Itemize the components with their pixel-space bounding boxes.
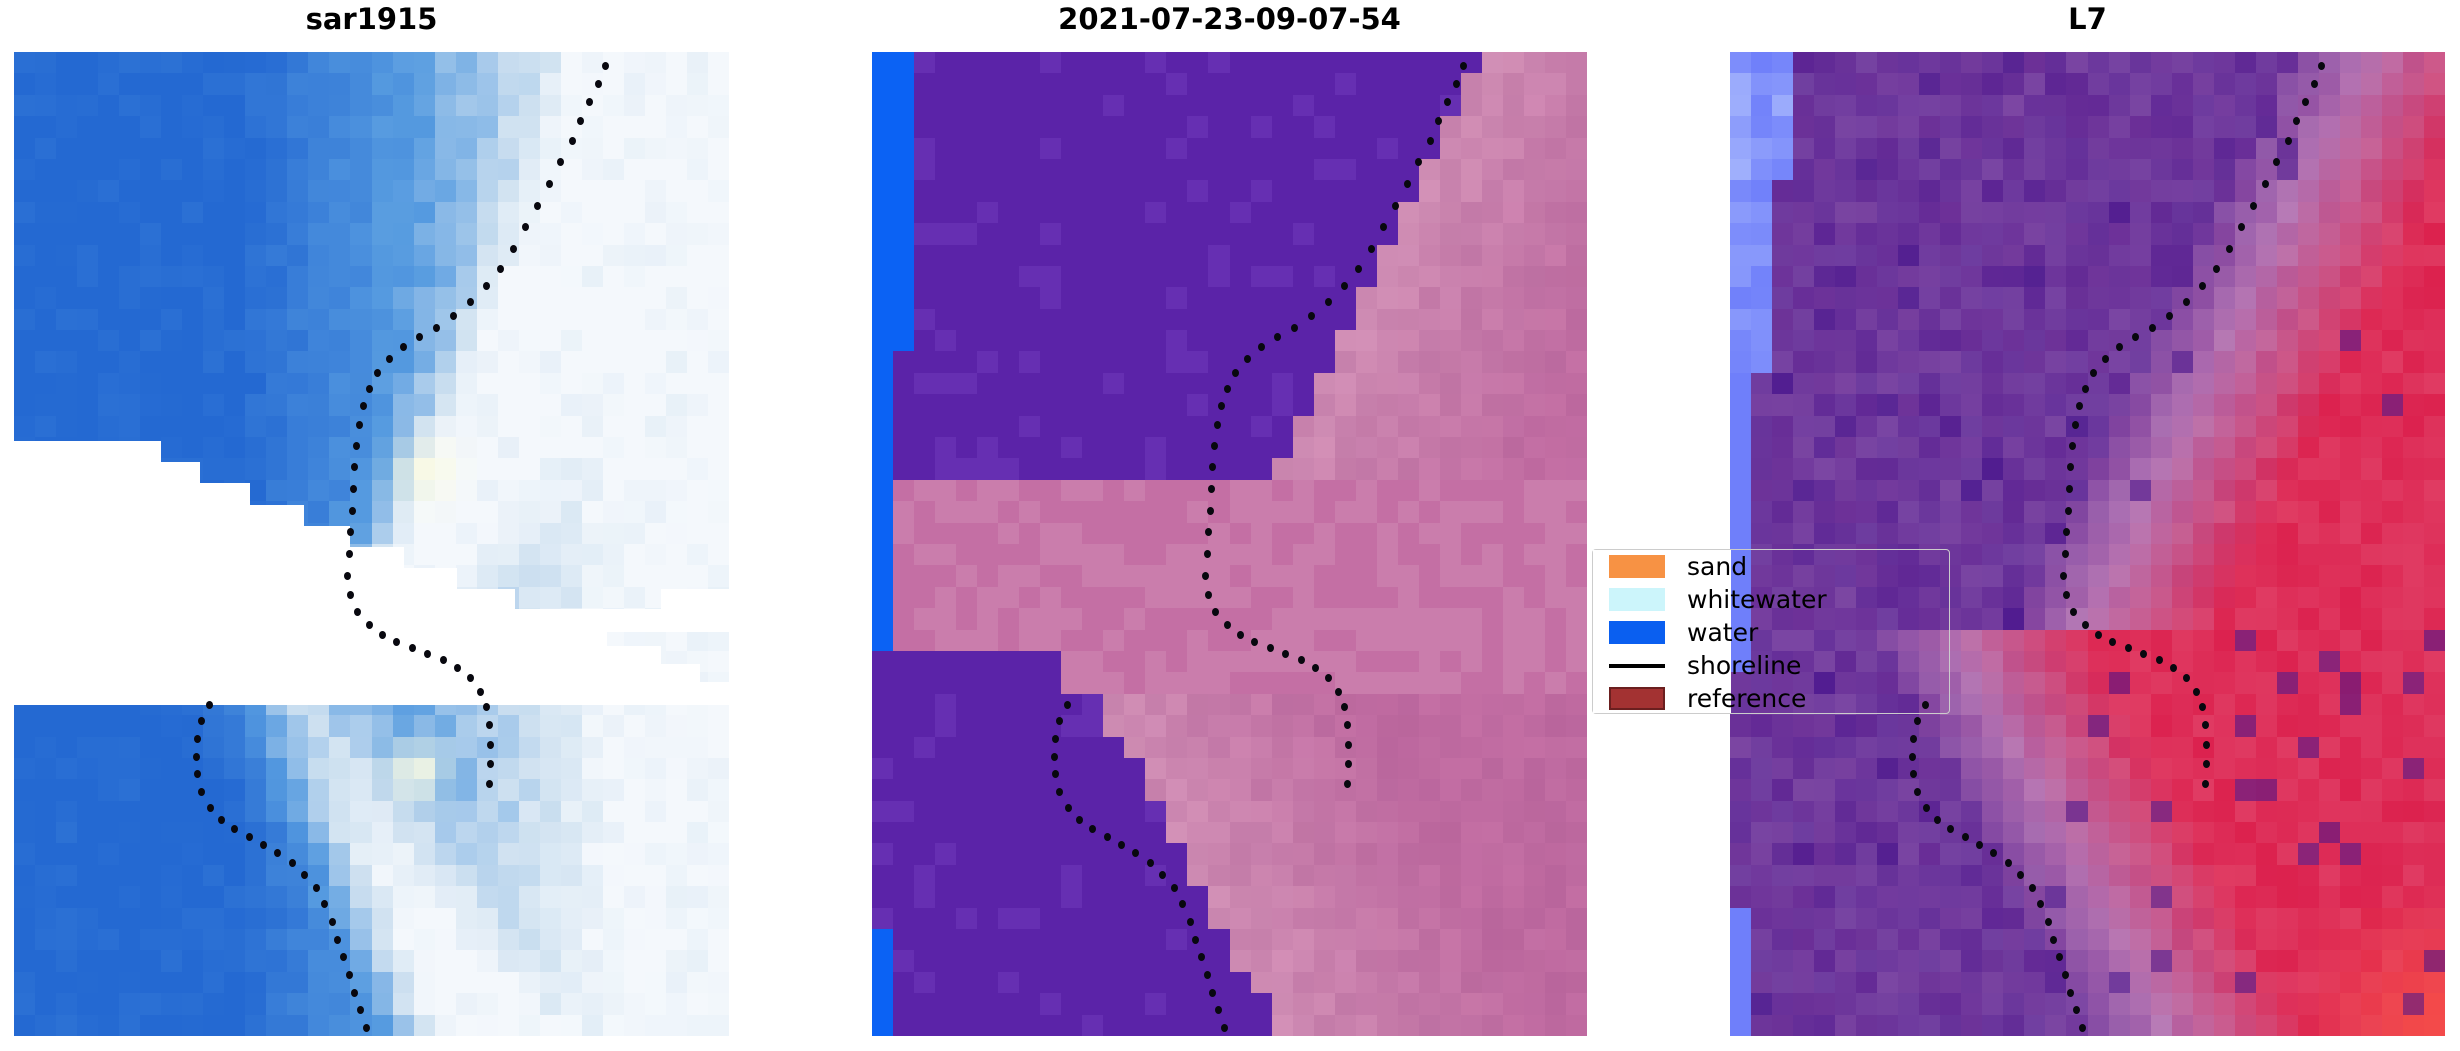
shoreline-dot: [2262, 180, 2269, 188]
shoreline-dot: [2250, 202, 2257, 210]
shoreline-dot: [366, 385, 373, 393]
shoreline-dot: [1392, 202, 1399, 210]
shoreline-dot: [2140, 650, 2147, 658]
shoreline-dot: [1187, 918, 1194, 926]
shoreline-dot: [1251, 638, 1258, 646]
shoreline-dot: [1345, 741, 1352, 749]
shoreline-dot: [2202, 780, 2209, 788]
shoreline-dot: [1344, 721, 1351, 729]
shoreline-dot: [1215, 1006, 1222, 1014]
shoreline-dot: [2238, 223, 2245, 231]
shoreline-dot: [1214, 421, 1221, 429]
shoreline-dot: [374, 369, 381, 377]
legend-label: sand: [1687, 552, 1747, 581]
panel-title-classified: 2021-07-23-09-07-54: [872, 2, 1587, 36]
shoreline-dot: [344, 572, 351, 580]
shoreline-dot: [1976, 841, 1983, 849]
shoreline-dot: [1914, 788, 1921, 796]
shoreline-dot: [393, 638, 400, 646]
shoreline-dot: [289, 859, 296, 867]
shoreline-dot: [347, 591, 354, 599]
shoreline-dot: [487, 741, 494, 749]
shoreline-dot: [1204, 971, 1211, 979]
shoreline-dot: [1325, 674, 1332, 682]
shoreline-dot: [1209, 463, 1216, 471]
shoreline-dot: [353, 442, 360, 450]
shoreline-dot: [440, 656, 447, 664]
shoreline-dot: [1258, 343, 1265, 351]
shoreline-dot: [2226, 245, 2233, 253]
shoreline-dot: [2203, 760, 2210, 768]
shoreline-dot: [1212, 608, 1219, 616]
shoreline-dot: [246, 833, 253, 841]
shoreline-dot: [198, 788, 205, 796]
shoreline-dot: [2273, 158, 2280, 166]
shoreline-dot: [231, 825, 238, 833]
shoreline-dot: [2302, 98, 2309, 106]
shoreline-dot: [2063, 528, 2070, 536]
legend-swatch-icon: [1609, 588, 1665, 611]
shoreline-dot: [366, 621, 373, 629]
shoreline-dot: [1341, 282, 1348, 290]
shoreline-dot: [1444, 98, 1451, 106]
classified-shoreline-dots: [872, 52, 1587, 1036]
shoreline-dot: [577, 117, 584, 125]
shoreline-dot: [329, 918, 336, 926]
shoreline-dot: [2102, 355, 2109, 363]
shoreline-dot: [2056, 953, 2063, 961]
shoreline-dot: [1179, 900, 1186, 908]
shoreline-dot: [2213, 265, 2220, 273]
panel-title-l7: L7: [1730, 2, 2445, 36]
shoreline-dot: [2090, 369, 2097, 377]
shoreline-dot: [454, 664, 461, 672]
shoreline-dot: [450, 312, 457, 320]
shoreline-dot: [349, 507, 356, 515]
shoreline-dot: [1282, 650, 1289, 658]
shoreline-dot: [351, 463, 358, 471]
sar-shoreline-dots: [14, 52, 729, 1036]
shoreline-dot: [467, 674, 474, 682]
legend-line-icon: [1609, 664, 1665, 668]
shoreline-dot: [321, 900, 328, 908]
shoreline-dot: [1205, 528, 1212, 536]
shoreline-dot: [602, 62, 609, 70]
shoreline-dot: [467, 298, 474, 306]
shoreline-dot: [1355, 265, 1362, 273]
shoreline-dot: [1415, 158, 1422, 166]
panel-sar1915[interactable]: [14, 52, 729, 1036]
shoreline-dot: [409, 644, 416, 652]
shoreline-dot: [194, 735, 201, 743]
shoreline-dot: [424, 650, 431, 658]
shoreline-dot: [218, 816, 225, 824]
shoreline-dot: [2005, 859, 2012, 867]
legend-label: reference: [1687, 684, 1806, 713]
shoreline-dot: [477, 688, 484, 696]
shoreline-dot: [2082, 385, 2089, 393]
shoreline-dot: [2109, 638, 2116, 646]
shoreline-dot: [1312, 664, 1319, 672]
shoreline-dot: [1435, 117, 1442, 125]
shoreline-dot: [1118, 841, 1125, 849]
shoreline-dot: [1291, 324, 1298, 332]
shoreline-dot: [2149, 324, 2156, 332]
l7-shoreline-dots: [1730, 52, 2445, 1036]
shoreline-dot: [1208, 485, 1215, 493]
shoreline-dot: [2050, 936, 2057, 944]
shoreline-dot: [346, 550, 353, 558]
shoreline-dot: [1205, 591, 1212, 599]
shoreline-dot: [1224, 621, 1231, 629]
shoreline-dot: [483, 282, 490, 290]
shoreline-dot: [2199, 703, 2206, 711]
shoreline-dot: [1056, 788, 1063, 796]
figure-canvas: sar1915 2021-07-23-09-07-54 L7 sandwhite…: [0, 0, 2460, 1051]
shoreline-dot: [2069, 442, 2076, 450]
shoreline-dot: [1344, 780, 1351, 788]
shoreline-dot: [313, 884, 320, 892]
shoreline-dot: [2017, 871, 2024, 879]
shoreline-dot: [1914, 717, 1921, 725]
shoreline-dot: [1104, 833, 1111, 841]
shoreline-dot: [433, 324, 440, 332]
shoreline-dot: [534, 202, 541, 210]
shoreline-dot: [2318, 62, 2325, 70]
shoreline-dot: [1335, 688, 1342, 696]
shoreline-dot: [1052, 735, 1059, 743]
shoreline-dot: [198, 717, 205, 725]
shoreline-dot: [2029, 884, 2036, 892]
shoreline-dot: [1211, 442, 1218, 450]
shoreline-dot: [1052, 770, 1059, 778]
shoreline-dot: [497, 265, 504, 273]
shoreline-dot: [1345, 760, 1352, 768]
shoreline-dot: [1453, 80, 1460, 88]
shoreline-dot: [483, 703, 490, 711]
shoreline-dot: [2067, 463, 2074, 471]
shoreline-dot: [1267, 644, 1274, 652]
shoreline-dot: [2156, 656, 2163, 664]
shoreline-dot: [346, 971, 353, 979]
shoreline-dot: [1427, 137, 1434, 145]
shoreline-dot: [522, 223, 529, 231]
shoreline-dot: [1171, 884, 1178, 892]
shoreline-dot: [301, 871, 308, 879]
shoreline-dot: [194, 770, 201, 778]
shoreline-dot: [2065, 507, 2072, 515]
shoreline-dot: [569, 137, 576, 145]
shoreline-dot: [557, 158, 564, 166]
shoreline-dot: [334, 936, 341, 944]
shoreline-dot: [1325, 298, 1332, 306]
shoreline-dot: [1947, 825, 1954, 833]
shoreline-dot: [2166, 312, 2173, 320]
panel-classified[interactable]: [872, 52, 1587, 1036]
shoreline-dot: [1051, 753, 1058, 761]
shoreline-dot: [207, 804, 214, 812]
shoreline-dot: [1404, 180, 1411, 188]
shoreline-dot: [2060, 572, 2067, 580]
shoreline-dot: [1221, 1024, 1228, 1032]
shoreline-dot: [351, 989, 358, 997]
shoreline-dot: [586, 98, 593, 106]
shoreline-dot: [2079, 1024, 2086, 1032]
shoreline-dot: [360, 402, 367, 410]
shoreline-dot: [1132, 849, 1139, 857]
shoreline-dot: [2116, 343, 2123, 351]
shoreline-dot: [2132, 333, 2139, 341]
panel-l7[interactable]: [1730, 52, 2445, 1036]
shoreline-dot: [2066, 485, 2073, 493]
shoreline-dot: [1147, 859, 1154, 867]
legend-entry-reference[interactable]: reference: [1593, 680, 1949, 718]
shoreline-dot: [1202, 572, 1209, 580]
shoreline-dot: [1308, 312, 1315, 320]
shoreline-dot: [2062, 971, 2069, 979]
shoreline-dot: [1274, 333, 1281, 341]
shoreline-dot: [2037, 900, 2044, 908]
shoreline-dot: [2082, 621, 2089, 629]
shoreline-dot: [2045, 918, 2052, 926]
shoreline-dot: [1923, 804, 1930, 812]
shoreline-dot: [1218, 402, 1225, 410]
shoreline-dot: [595, 80, 602, 88]
legend-label: shoreline: [1687, 651, 1801, 680]
shoreline-dot: [2202, 721, 2209, 729]
shoreline-dot: [2076, 402, 2083, 410]
shoreline-dot: [2170, 664, 2177, 672]
shoreline-dot: [356, 421, 363, 429]
shoreline-dot: [2183, 674, 2190, 682]
shoreline-dot: [486, 721, 493, 729]
shoreline-dot: [350, 485, 357, 493]
shoreline-dot: [1056, 717, 1063, 725]
shoreline-dot: [2063, 591, 2070, 599]
shoreline-dot: [1076, 816, 1083, 824]
shoreline-dot: [1065, 804, 1072, 812]
shoreline-dot: [1990, 849, 1997, 857]
shoreline-dot: [2285, 137, 2292, 145]
shoreline-dot: [347, 528, 354, 536]
shoreline-dot: [546, 180, 553, 188]
shoreline-dot: [2062, 550, 2069, 558]
shoreline-dot: [274, 849, 281, 857]
shoreline-dot: [2293, 117, 2300, 125]
shoreline-dot: [357, 1006, 364, 1014]
shoreline-dot: [1341, 703, 1348, 711]
shoreline-dot: [2073, 1006, 2080, 1014]
shoreline-dot: [340, 953, 347, 961]
shoreline-dot: [206, 701, 213, 709]
legend-swatch-icon: [1609, 555, 1665, 578]
shoreline-dot: [416, 333, 423, 341]
shoreline-dot: [1198, 953, 1205, 961]
shoreline-dot: [1962, 833, 1969, 841]
shoreline-dot: [2311, 80, 2318, 88]
shoreline-dot: [386, 355, 393, 363]
shoreline-dot: [1237, 631, 1244, 639]
shoreline-dot: [260, 841, 267, 849]
legend-swatch-icon: [1609, 687, 1665, 710]
legend-swatch-icon: [1609, 621, 1665, 644]
shoreline-dot: [1909, 753, 1916, 761]
shoreline-dot: [1232, 369, 1239, 377]
shoreline-dot: [2203, 741, 2210, 749]
legend-box[interactable]: sandwhitewaterwatershorelinereference: [1592, 549, 1950, 714]
shoreline-dot: [379, 631, 386, 639]
shoreline-dot: [193, 753, 200, 761]
shoreline-dot: [1159, 871, 1166, 879]
shoreline-dot: [1244, 355, 1251, 363]
legend-label: water: [1687, 618, 1758, 647]
shoreline-dot: [510, 245, 517, 253]
shoreline-dot: [2125, 644, 2132, 652]
shoreline-dot: [363, 1024, 370, 1032]
shoreline-dot: [1192, 936, 1199, 944]
shoreline-dot: [2199, 282, 2206, 290]
shoreline-dot: [2070, 608, 2077, 616]
shoreline-dot: [2193, 688, 2200, 696]
shoreline-dot: [1209, 989, 1216, 997]
shoreline-dot: [487, 760, 494, 768]
shoreline-dot: [1910, 770, 1917, 778]
shoreline-dot: [2072, 421, 2079, 429]
shoreline-dot: [1298, 656, 1305, 664]
shoreline-dot: [1204, 550, 1211, 558]
shoreline-dot: [1064, 701, 1071, 709]
legend-label: whitewater: [1687, 585, 1827, 614]
shoreline-dot: [1089, 825, 1096, 833]
shoreline-dot: [1910, 735, 1917, 743]
shoreline-dot: [2067, 989, 2074, 997]
shoreline-dot: [1224, 385, 1231, 393]
shoreline-dot: [2183, 298, 2190, 306]
shoreline-dot: [486, 780, 493, 788]
shoreline-dot: [1368, 245, 1375, 253]
shoreline-dot: [1380, 223, 1387, 231]
shoreline-dot: [1934, 816, 1941, 824]
shoreline-dot: [400, 343, 407, 351]
shoreline-dot: [1207, 507, 1214, 515]
shoreline-dot: [2095, 631, 2102, 639]
shoreline-dot: [1460, 62, 1467, 70]
panel-title-sar1915: sar1915: [14, 2, 729, 36]
shoreline-dot: [354, 608, 361, 616]
